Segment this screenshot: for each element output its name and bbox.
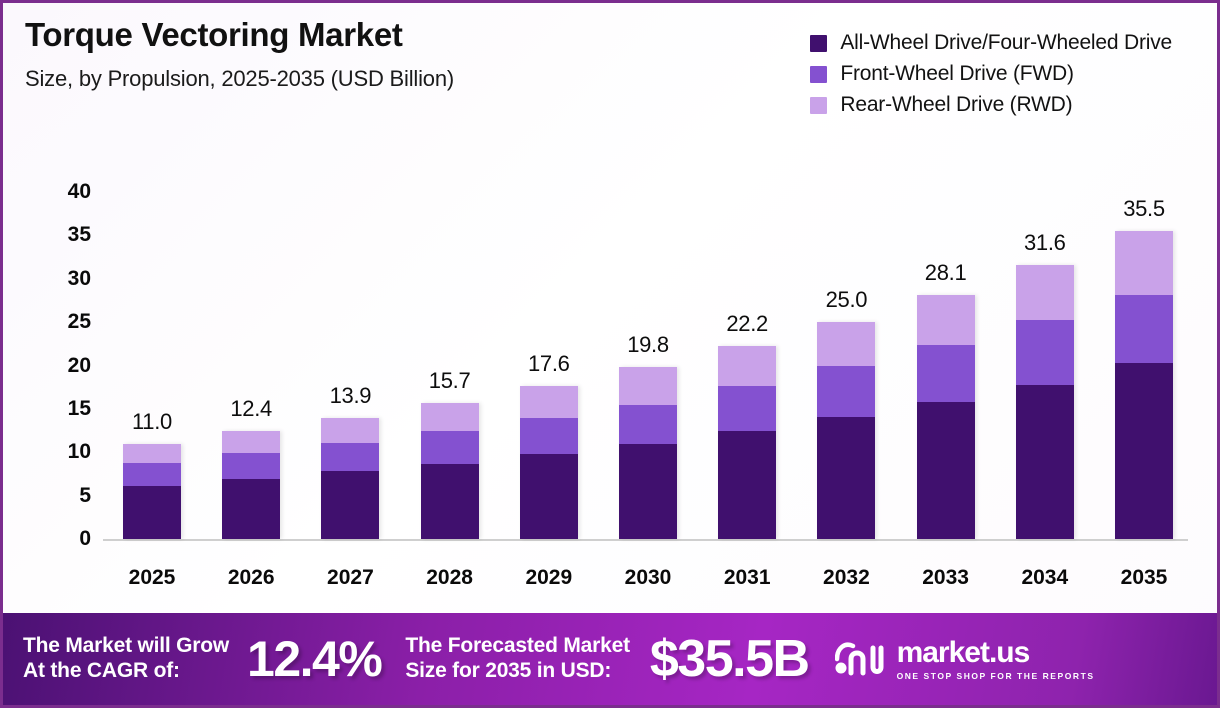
bar-group[interactable]: 15.72028 [421,538,479,539]
bar-group[interactable]: 19.82030 [619,538,677,539]
forecast-caption: The Forecasted Market Size for 2035 in U… [405,634,630,684]
stacked-bar[interactable] [520,386,578,539]
stacked-bar[interactable] [321,418,379,539]
bar-segment[interactable] [520,454,578,539]
bar-group[interactable]: 22.22031 [718,538,776,539]
bar-value-label: 28.1 [886,260,1006,286]
bar-group[interactable]: 11.02025 [123,538,181,539]
bar-segment[interactable] [1115,363,1173,539]
bar-segment[interactable] [123,463,181,486]
bar-segment[interactable] [1115,295,1173,363]
bar-group[interactable]: 17.62029 [520,538,578,539]
market-us-logo-icon [835,637,887,682]
stacked-bar[interactable] [619,367,677,539]
bar-segment[interactable] [917,345,975,402]
logo-wordmark: market.us [897,638,1095,668]
logo-tagline: ONE STOP SHOP FOR THE REPORTS [897,672,1095,681]
forecast-value: $35.5B [650,629,809,689]
y-axis-tick-label: 30 [45,267,91,291]
y-axis-tick-label: 40 [45,180,91,204]
bar-segment[interactable] [917,295,975,344]
bar-segment[interactable] [123,486,181,539]
bar-segment[interactable] [421,464,479,539]
bar-segment[interactable] [321,443,379,472]
x-axis-baseline [103,539,1188,541]
stacked-bar[interactable] [1016,265,1074,539]
bar-group[interactable]: 12.42026 [222,538,280,539]
footer-banner: The Market will Grow At the CAGR of: 12.… [3,613,1217,705]
bar-group[interactable]: 25.02032 [817,538,875,539]
bar-segment[interactable] [817,417,875,539]
bar-segment[interactable] [619,367,677,404]
infographic-root: Torque Vectoring Market Size, by Propuls… [0,0,1220,708]
bar-segment[interactable] [222,479,280,539]
bar-segment[interactable] [1016,385,1074,539]
bar-segment[interactable] [619,444,677,539]
bar-value-label: 22.2 [687,311,807,337]
logo-text: market.us ONE STOP SHOP FOR THE REPORTS [897,638,1095,681]
market-us-logo: market.us ONE STOP SHOP FOR THE REPORTS [835,637,1095,682]
stacked-bar[interactable] [917,295,975,539]
stacked-bar[interactable] [123,444,181,539]
bar-segment[interactable] [421,431,479,463]
bar-segment[interactable] [718,431,776,539]
bar-segment[interactable] [321,418,379,442]
stacked-bar[interactable] [1115,231,1173,539]
y-axis-tick-label: 5 [45,484,91,508]
bar-group[interactable]: 31.62034 [1016,538,1074,539]
bar-group[interactable]: 35.52035 [1115,538,1173,539]
bar-value-label: 25.0 [786,287,906,313]
bar-segment[interactable] [1016,265,1074,321]
cagr-value: 12.4% [247,630,381,688]
bar-group[interactable]: 28.12033 [917,538,975,539]
bar-value-label: 31.6 [985,230,1105,256]
y-axis-tick-label: 15 [45,397,91,421]
bar-segment[interactable] [619,405,677,444]
stacked-bar[interactable] [421,403,479,539]
bar-segment[interactable] [520,418,578,454]
y-axis: 0510152025303540 [41,3,91,603]
bar-segment[interactable] [520,386,578,418]
y-axis-tick-label: 20 [45,354,91,378]
bar-segment[interactable] [123,444,181,463]
bar-segment[interactable] [421,403,479,432]
bar-segment[interactable] [321,471,379,539]
bar-group[interactable]: 13.92027 [321,538,379,539]
bar-segment[interactable] [1016,320,1074,384]
bar-segment[interactable] [222,453,280,479]
y-axis-tick-label: 25 [45,310,91,334]
y-axis-tick-label: 35 [45,223,91,247]
stacked-bar[interactable] [222,431,280,539]
cagr-caption: The Market will Grow At the CAGR of: [23,634,229,684]
bar-segment[interactable] [1115,231,1173,295]
bar-segment[interactable] [817,366,875,417]
bar-value-label: 35.5 [1084,196,1204,222]
bar-segment[interactable] [222,431,280,453]
bar-segment[interactable] [817,322,875,365]
stacked-bar[interactable] [817,322,875,539]
y-axis-tick-label: 10 [45,440,91,464]
bar-segment[interactable] [917,402,975,539]
bar-segment[interactable] [718,386,776,431]
x-axis-tick-label: 2035 [1084,566,1204,590]
stacked-bar[interactable] [718,346,776,539]
bar-segment[interactable] [718,346,776,386]
chart-plot-area: 0510152025303540 11.0202512.4202613.9202… [3,3,1220,603]
y-axis-tick-label: 0 [45,527,91,551]
